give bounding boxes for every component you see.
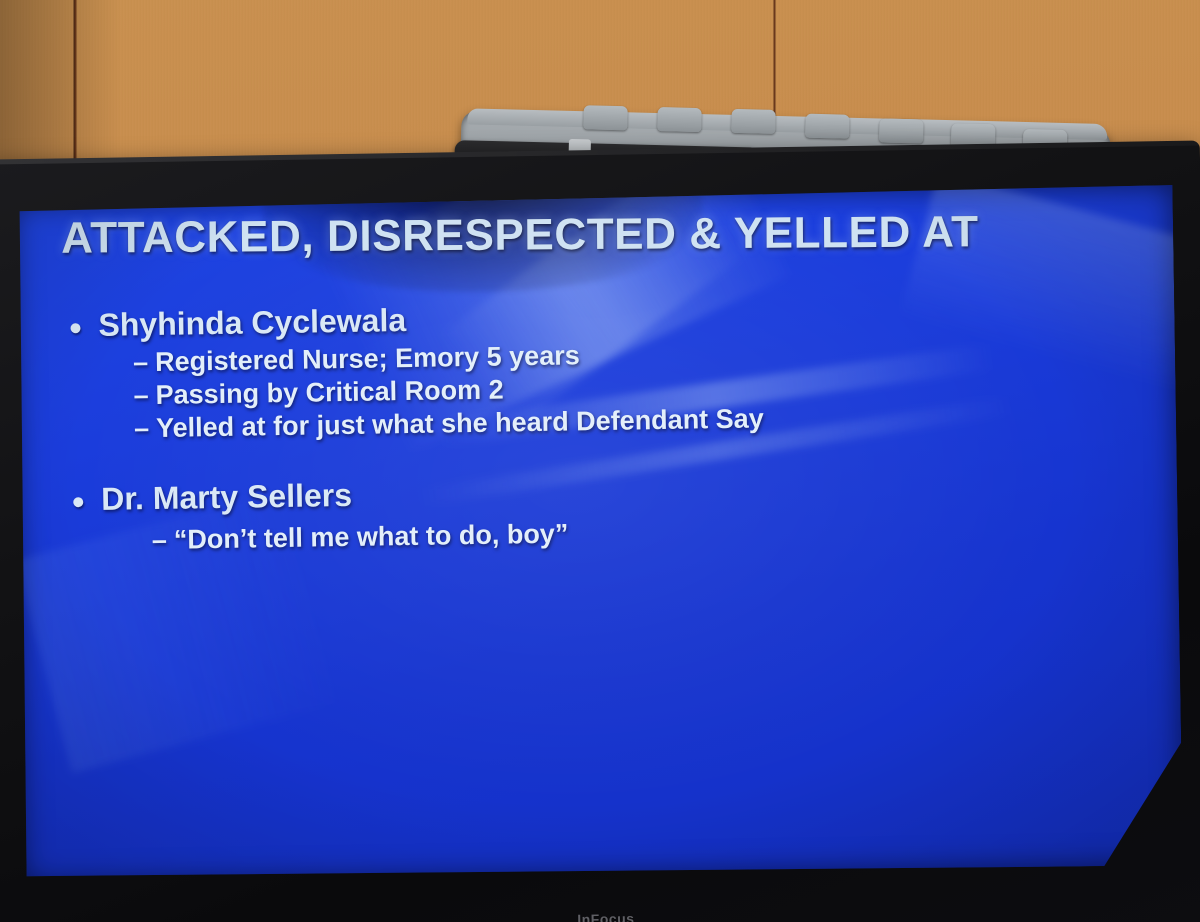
slide-body: Shyhinda Cyclewala –Registered Nurse; Em…	[70, 291, 1114, 559]
bullet-dot-icon	[73, 497, 83, 507]
bullet-label: Shyhinda Cyclewala	[98, 302, 406, 344]
case-nub	[657, 107, 702, 132]
sub-bullet-item: –“Don’t tell me what to do, boy”	[152, 510, 1114, 556]
sub-bullet-label: “Don’t tell me what to do, boy”	[174, 518, 569, 554]
case-nub	[583, 105, 628, 130]
slide-title: ATTACKED, DISRESPECTED & YELLED AT	[61, 206, 1141, 264]
dash-icon: –	[134, 413, 156, 444]
monitor-screen: ATTACKED, DISRESPECTED & YELLED AT Shyhi…	[13, 185, 1184, 883]
dash-icon: –	[152, 525, 174, 556]
room-scene: ATTACKED, DISRESPECTED & YELLED AT Shyhi…	[0, 0, 1200, 922]
wall-panel-seam-secondary	[773, 0, 776, 120]
bullet-label: Dr. Marty Sellers	[101, 477, 352, 518]
case-nub	[879, 118, 924, 143]
dash-icon: –	[133, 347, 155, 378]
presentation-slide: ATTACKED, DISRESPECTED & YELLED AT Shyhi…	[13, 185, 1184, 883]
dash-icon: –	[133, 380, 155, 411]
sub-bullet-label: Registered Nurse; Emory 5 years	[155, 340, 580, 377]
case-nub	[731, 109, 776, 134]
case-nub	[805, 114, 850, 139]
sub-bullet-label: Passing by Critical Room 2	[155, 374, 504, 409]
bullet-dot-icon	[70, 323, 80, 333]
sub-bullet-group: –“Don’t tell me what to do, boy”	[74, 510, 1114, 557]
presentation-monitor: ATTACKED, DISRESPECTED & YELLED AT Shyhi…	[0, 141, 1200, 922]
